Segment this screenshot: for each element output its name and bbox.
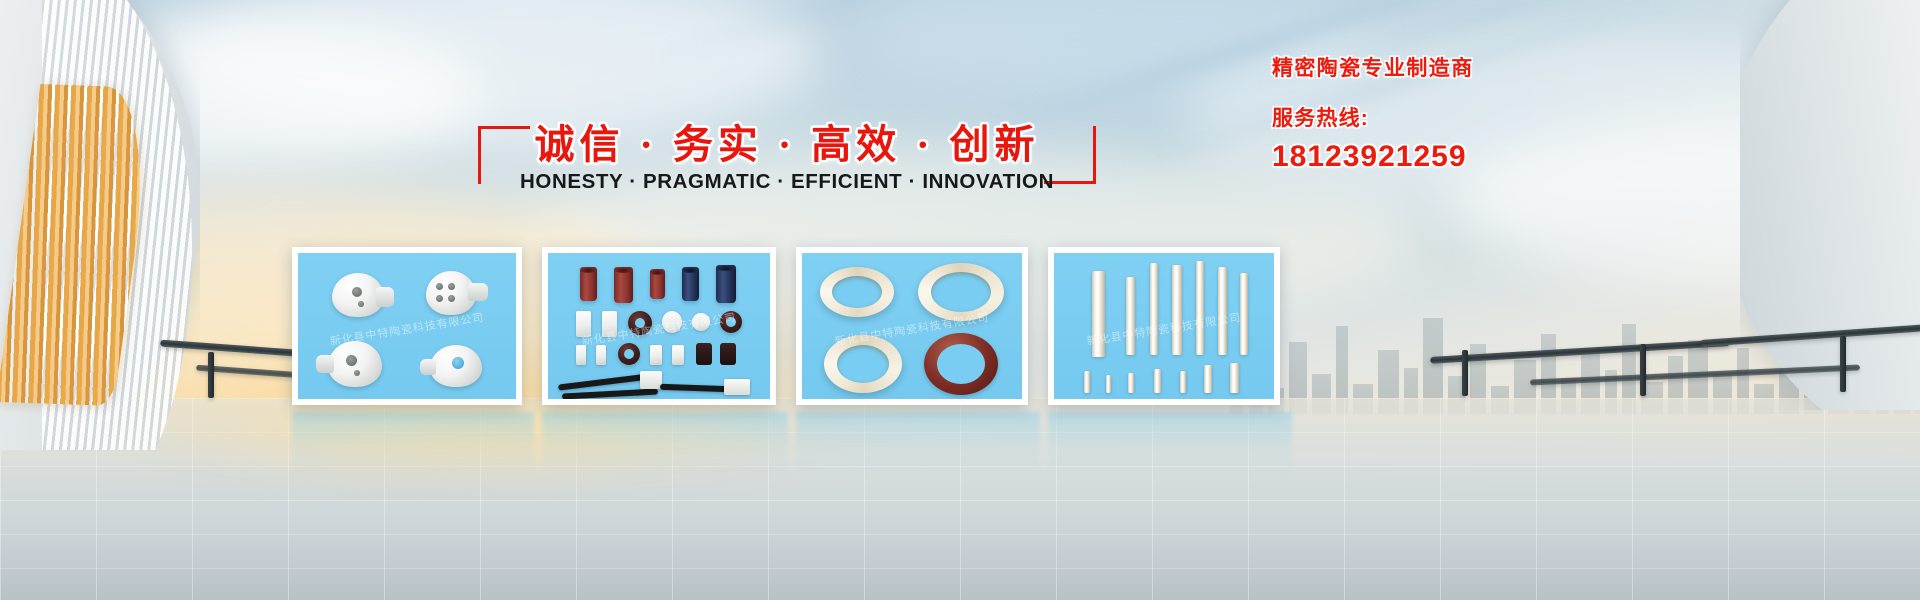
cloud-streak xyxy=(647,0,1053,67)
ceramic-tube-part xyxy=(580,267,597,301)
ceramic-rod-part xyxy=(1106,375,1111,393)
railing-post xyxy=(1840,336,1846,392)
panel-reflection xyxy=(542,412,788,476)
wire-connector xyxy=(640,371,662,389)
ceramic-rod-part xyxy=(1084,371,1090,393)
ceramic-rod-part xyxy=(1128,373,1134,393)
o-ring-part xyxy=(628,311,652,335)
ceramic-tube-part xyxy=(716,265,736,303)
ceramic-chip-part xyxy=(596,345,606,365)
ceramic-rod-part xyxy=(1240,273,1248,355)
panel-reflection xyxy=(1048,412,1292,476)
hotline-number[interactable]: 18123921259 xyxy=(1272,140,1692,174)
ceramic-rod-part xyxy=(1172,265,1182,355)
o-ring-part xyxy=(720,311,742,333)
ceramic-tube-part xyxy=(614,267,633,303)
ceramic-washer-part xyxy=(662,311,682,333)
product-panel-ceramic-nozzle-caps[interactable]: 新化县中特陶瓷科技有限公司 xyxy=(292,247,522,405)
ceramic-cap-part xyxy=(332,273,384,317)
ceramic-chip-part xyxy=(650,345,662,365)
wire-connector xyxy=(724,379,750,395)
company-tagline: 精密陶瓷专业制造商 xyxy=(1272,52,1692,82)
slogan-chinese: 诚信 · 务实 · 高效 · 创新 xyxy=(534,112,1040,170)
ceramic-ring-part xyxy=(820,267,894,317)
connector-part xyxy=(696,343,712,365)
product-panel-ceramic-rods[interactable]: 新化县中特陶瓷科技有限公司 xyxy=(1048,247,1280,405)
ceramic-chip-part xyxy=(576,311,591,337)
product-panel-ceramic-rings[interactable]: 新化县中特陶瓷科技有限公司 xyxy=(796,247,1028,405)
connector-part xyxy=(720,343,736,365)
promo-banner: 诚信 · 务实 · 高效 · 创新 HONESTY · PRAGMATIC · … xyxy=(0,0,1920,600)
ceramic-ring-part xyxy=(824,335,902,393)
ceramic-chip-part xyxy=(576,345,586,365)
ceramic-rod-part xyxy=(1126,277,1135,355)
ceramic-ring-part xyxy=(918,263,1004,321)
product-panel-ceramic-tubes-and-chips[interactable]: 新化县中特陶瓷科技有限公司 xyxy=(542,247,776,405)
panel-reflection xyxy=(292,412,534,476)
ceramic-tube-part xyxy=(682,267,699,301)
product-gallery: 新化县中特陶瓷科技有限公司 xyxy=(292,247,1528,405)
ceramic-rod-part xyxy=(1154,369,1161,393)
o-ring-part xyxy=(924,333,998,395)
ceramic-tube-part xyxy=(650,269,665,299)
ceramic-rod-part xyxy=(1196,261,1204,355)
ceramic-rod-part xyxy=(1204,365,1212,393)
slogan-english: HONESTY · PRAGMATIC · EFFICIENT · INNOVA… xyxy=(478,170,1096,194)
o-ring-part xyxy=(618,343,640,365)
ceramic-chip-part xyxy=(602,311,617,337)
ceramic-washer-part xyxy=(692,313,710,331)
railing-post xyxy=(208,352,214,398)
ceramic-rod-part xyxy=(1092,271,1105,357)
ceramic-cap-part xyxy=(430,345,482,387)
ceramic-rod-part xyxy=(1230,363,1239,393)
white-canopy-right xyxy=(1740,0,1920,410)
ceramic-cap-part xyxy=(328,341,382,387)
ceramic-cap-part xyxy=(426,271,476,315)
ceramic-rod-part xyxy=(1150,263,1158,355)
hotline-label: 服务热线: xyxy=(1272,102,1692,132)
ceramic-rod-part xyxy=(1180,371,1186,393)
panel-reflection xyxy=(796,412,1040,476)
ceramic-chip-part xyxy=(672,345,684,365)
ceramic-rod-part xyxy=(1218,267,1227,355)
contact-block: 精密陶瓷专业制造商 服务热线: 18123921259 xyxy=(1272,52,1692,174)
headline-block: 诚信 · 务实 · 高效 · 创新 HONESTY · PRAGMATIC · … xyxy=(478,108,1096,200)
railing-post xyxy=(1640,344,1646,396)
